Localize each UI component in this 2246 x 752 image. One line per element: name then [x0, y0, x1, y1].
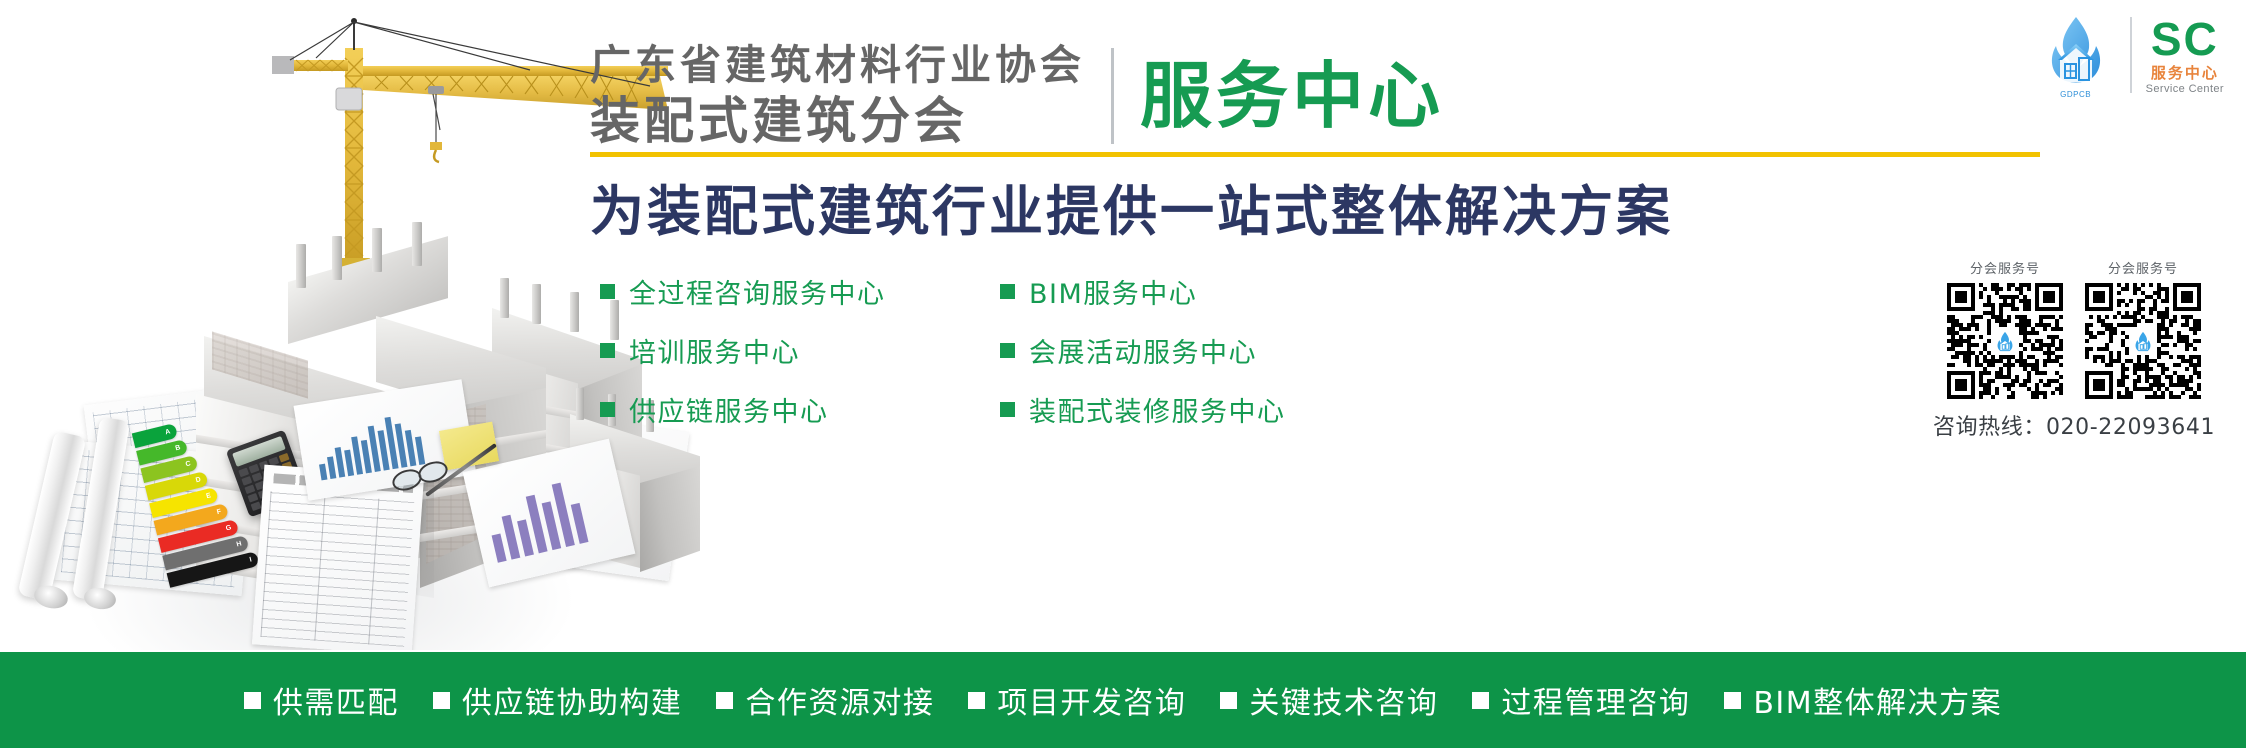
association-name: 广东省建筑材料行业协会 装配式建筑分会: [590, 42, 1085, 150]
service-item[interactable]: 装配式装修服务中心: [1000, 390, 1400, 429]
bottom-bar-item[interactable]: BIM整体解决方案: [1724, 678, 2002, 722]
service-center-title: 服务中心: [1140, 50, 1444, 142]
service-item-label: 会展活动服务中心: [1029, 331, 1257, 370]
logo-divider: [2130, 17, 2132, 93]
qr-caption: 分会服务号: [1970, 258, 2040, 277]
bottom-bar-item-label: 关键技术咨询: [1249, 678, 1438, 722]
bottom-bar-item-label: 过程管理咨询: [1501, 678, 1690, 722]
qr-code-image[interactable]: [2085, 283, 2201, 399]
service-item[interactable]: BIM服务中心: [1000, 272, 1400, 311]
association-line-1: 广东省建筑材料行业协会: [590, 42, 1085, 90]
qr-code-cell: 分会服务号: [2085, 258, 2201, 399]
qr-code-cell: 分会服务号: [1947, 258, 2063, 399]
bottom-bar-item[interactable]: 合作资源对接: [716, 678, 934, 722]
bullet-square-icon: [968, 692, 985, 709]
bottom-bar-item-label: 供应链协助构建: [462, 678, 683, 722]
bullet-square-icon: [600, 402, 615, 417]
banner-root: ABCDEFGHI: [0, 0, 2246, 752]
bottom-bar-item-label: 合作资源对接: [745, 678, 934, 722]
bottom-bar-item-label: 项目开发咨询: [997, 678, 1186, 722]
bottom-bar-item[interactable]: 供需匹配: [244, 678, 399, 722]
bottom-bar-item[interactable]: 关键技术咨询: [1220, 678, 1438, 722]
service-item-label: 全过程咨询服务中心: [629, 272, 886, 311]
bullet-square-icon: [1000, 343, 1015, 358]
logo-chinese-text: 服务中心: [2151, 66, 2219, 81]
bullet-square-icon: [1220, 692, 1237, 709]
content-panel: GDPCB SC 服务中心 Service Center 广东省建筑材料行业协会…: [700, 0, 2246, 650]
header-title-block: 广东省建筑材料行业协会 装配式建筑分会 服务中心: [590, 42, 1444, 150]
service-item[interactable]: 全过程咨询服务中心: [600, 272, 1000, 311]
qr-caption: 分会服务号: [2108, 258, 2178, 277]
service-item-label: BIM服务中心: [1029, 272, 1197, 311]
title-divider: [1111, 48, 1114, 144]
bullet-square-icon: [600, 343, 615, 358]
bullet-square-icon: [1000, 284, 1015, 299]
logo-mark-subtext: GDPCB: [2060, 90, 2091, 99]
bullet-square-icon: [244, 692, 261, 709]
bullet-square-icon: [716, 692, 733, 709]
service-item-label: 装配式装修服务中心: [1029, 390, 1286, 429]
bottom-bar-item[interactable]: 项目开发咨询: [968, 678, 1186, 722]
logo-english-text: Service Center: [2146, 84, 2224, 95]
bottom-bar-item[interactable]: 过程管理咨询: [1472, 678, 1690, 722]
hotline-text: 咨询热线：020-22093641: [1924, 409, 2224, 441]
qr-center-logo-icon: [2129, 327, 2157, 355]
qr-contact-block: 分会服务号分会服务号 咨询热线：020-22093641: [1924, 258, 2224, 441]
service-item[interactable]: 培训服务中心: [600, 331, 1000, 370]
qr-code-image[interactable]: [1947, 283, 2063, 399]
qr-code-row: 分会服务号分会服务号: [1924, 258, 2224, 399]
service-list: 全过程咨询服务中心BIM服务中心培训服务中心会展活动服务中心供应链服务中心装配式…: [600, 272, 1400, 429]
logo-sc-text: SC: [2151, 16, 2219, 62]
gdpcb-house-flame-icon: GDPCB: [2036, 12, 2116, 98]
bottom-bar-item-label: 供需匹配: [273, 678, 399, 722]
bottom-service-bar: 供需匹配供应链协助构建合作资源对接项目开发咨询关键技术咨询过程管理咨询BIM整体…: [0, 652, 2246, 748]
yellow-divider-rule: [590, 152, 2040, 157]
association-line-2: 装配式建筑分会: [590, 92, 1085, 150]
service-item[interactable]: 供应链服务中心: [600, 390, 1000, 429]
bullet-square-icon: [1724, 692, 1741, 709]
bottom-bar-item-label: BIM整体解决方案: [1753, 678, 2002, 722]
bullet-square-icon: [433, 692, 450, 709]
bullet-square-icon: [600, 284, 615, 299]
bullet-square-icon: [1472, 692, 1489, 709]
service-item-label: 供应链服务中心: [629, 390, 829, 429]
bullet-square-icon: [1000, 402, 1015, 417]
logo-wordmark: SC 服务中心 Service Center: [2146, 16, 2224, 95]
tagline-text: 为装配式建筑行业提供一站式整体解决方案: [590, 178, 2050, 246]
brand-logo: GDPCB SC 服务中心 Service Center: [2036, 12, 2224, 98]
service-item[interactable]: 会展活动服务中心: [1000, 331, 1400, 370]
service-item-label: 培训服务中心: [629, 331, 800, 370]
bottom-bar-item[interactable]: 供应链协助构建: [433, 678, 683, 722]
qr-center-logo-icon: [1991, 327, 2019, 355]
